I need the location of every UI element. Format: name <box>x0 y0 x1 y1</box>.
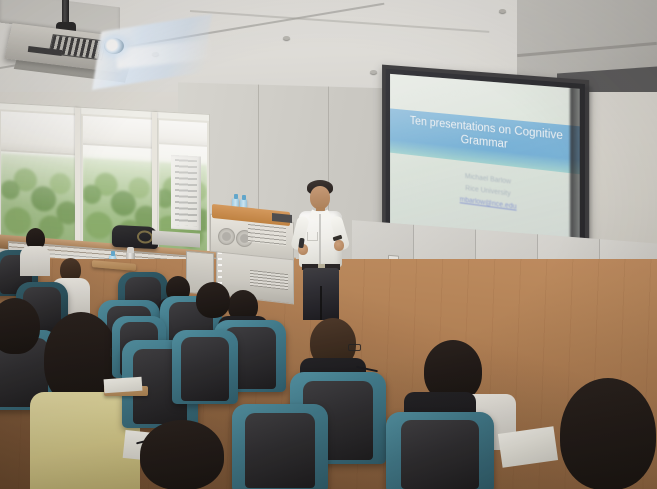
lectern-speaker-icon <box>218 228 235 245</box>
window-mullion <box>75 107 80 252</box>
student-head <box>140 420 224 489</box>
window-glare <box>1 111 77 247</box>
student-torso <box>20 246 50 276</box>
student-head <box>560 378 656 489</box>
sprinkler-icon <box>499 9 506 13</box>
seat-cushion <box>181 337 229 401</box>
seat[interactable] <box>172 330 238 404</box>
seat[interactable] <box>386 412 494 489</box>
seat[interactable] <box>232 404 328 489</box>
notes-paper[interactable] <box>104 377 143 394</box>
projector-lens-icon <box>104 38 124 54</box>
presenter-right-hand <box>334 240 344 251</box>
slide-subtitle: Michael Barlow Rice University mbarlow@r… <box>426 167 552 219</box>
trouser-seam <box>320 286 322 320</box>
presenter-shirt-placket <box>319 214 321 266</box>
presenter-shirt-pocket <box>307 232 318 241</box>
sprinkler-icon <box>370 70 377 74</box>
soffit-edge <box>517 42 657 57</box>
eyeglasses <box>348 344 361 351</box>
presenter-head <box>310 186 330 209</box>
projector-ceiling-mount <box>62 0 69 24</box>
presenter <box>286 178 356 320</box>
student-head <box>196 282 230 318</box>
sprinkler-icon <box>283 36 290 40</box>
lecture-hall-photo: Ten presentations on Cognitive Grammar M… <box>0 0 657 489</box>
seat-cushion <box>245 413 314 489</box>
seat-cushion <box>401 420 479 489</box>
